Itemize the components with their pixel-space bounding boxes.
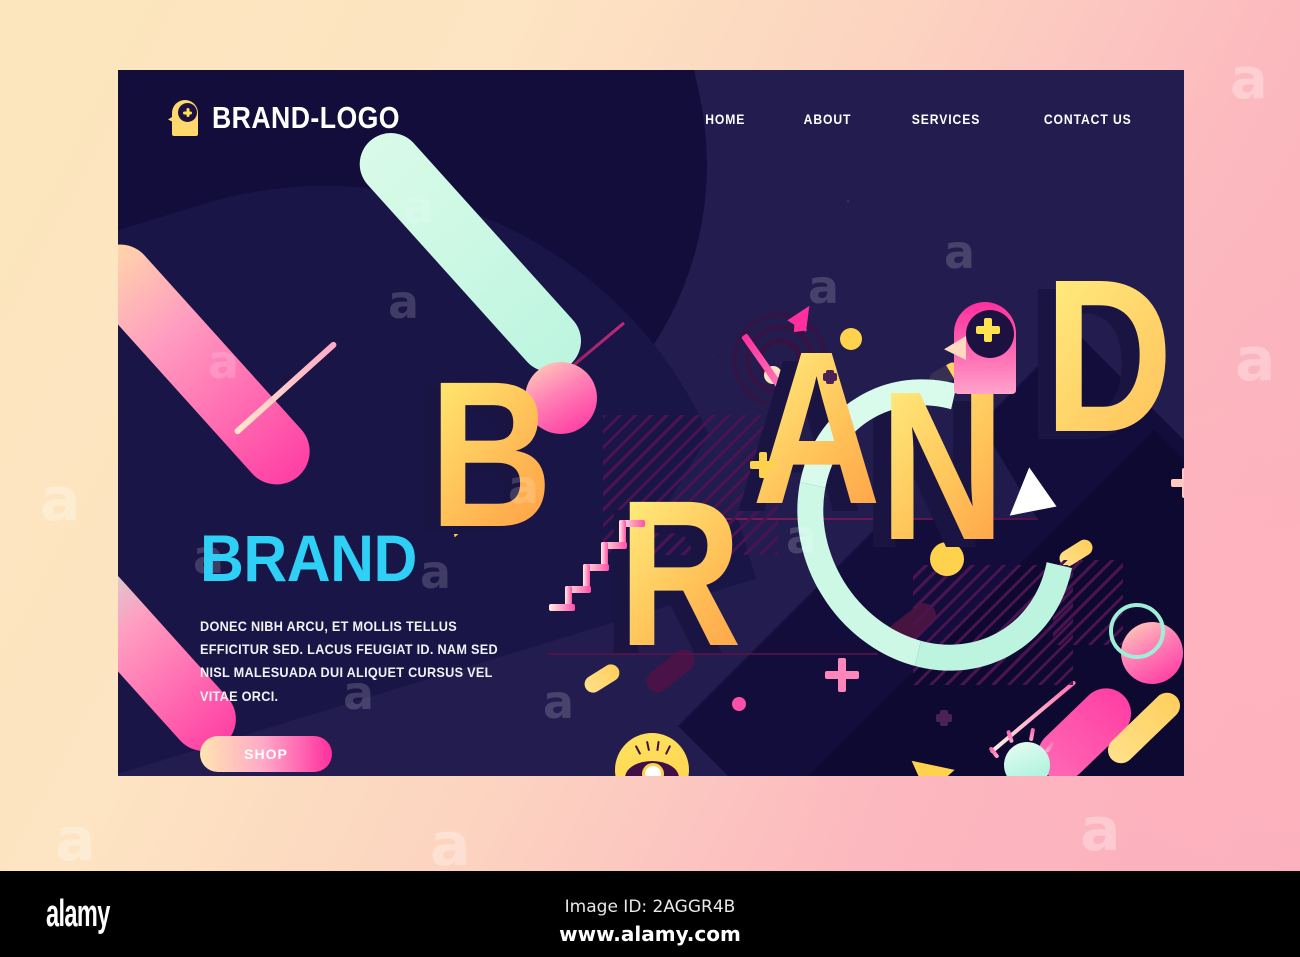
brand-logo[interactable]: BRAND-LOGO	[168, 100, 431, 136]
stock-footer-bar: alamy Image ID: 2AGGR4B www.alamy.com	[0, 871, 1300, 957]
zigzag-icon	[563, 520, 643, 630]
watermark-letter: a	[388, 275, 419, 329]
nav-item-about[interactable]: ABOUT	[804, 112, 852, 127]
dim-plus-icon-1	[823, 370, 837, 384]
watermark-letter: a	[40, 470, 81, 530]
alamy-url: www.alamy.com	[0, 922, 1300, 946]
nav-item-home[interactable]: HOME	[705, 112, 745, 127]
head-plus-icon	[944, 302, 1020, 394]
head-plus-icon	[168, 100, 198, 136]
hero-body-text: DONEC NIBH ARCU, ET MOLLIS TELLUS EFFICI…	[200, 615, 510, 708]
watermark-letter: a	[786, 510, 817, 564]
screenshot-stage: a a a a a a a	[0, 0, 1300, 957]
watermark-letter: a	[944, 225, 975, 279]
hero-headline: BRAND	[200, 525, 504, 591]
watermark-letter: a	[430, 815, 471, 875]
mint-ring-icon	[1109, 603, 1165, 659]
lightbulb-icon	[996, 738, 1060, 776]
nav-item-contact-us[interactable]: CONTACT US	[1043, 112, 1131, 127]
watermark-letter: a	[1235, 330, 1276, 390]
hero-card: B R A N D B R A N D	[118, 70, 1184, 776]
brand-logo-text: BRAND-LOGO	[212, 100, 400, 136]
site-header: BRAND-LOGO HOME ABOUT SERVICES CONTACT U…	[118, 70, 1184, 180]
cream-plus-icon	[1171, 468, 1184, 498]
eye-icon	[615, 733, 689, 776]
image-id-text: Image ID: 2AGGR4B	[0, 897, 1300, 917]
dim-plus-icon-2	[936, 710, 952, 726]
watermark-letter: a	[543, 675, 574, 729]
hero-copy-block: BRAND DONEC NIBH ARCU, ET MOLLIS TELLUS …	[200, 525, 530, 772]
yellow-plus-icon	[750, 452, 776, 478]
head-plus-glyph	[976, 318, 1000, 342]
main-navigation: HOME ABOUT SERVICES CONTACT US	[703, 112, 1136, 127]
watermark-letter: a	[808, 260, 839, 314]
watermark-letter: a	[1080, 800, 1121, 860]
watermark-letter: a	[1230, 52, 1268, 108]
nav-item-services[interactable]: SERVICES	[912, 112, 980, 127]
watermark-letter: a	[55, 810, 96, 870]
pink-plus-icon	[825, 658, 859, 692]
big-letter-d: D	[1044, 248, 1171, 466]
watermark-letter: a	[508, 460, 539, 514]
shop-button[interactable]: SHOP	[200, 736, 332, 772]
watermark-letter: a	[208, 335, 239, 389]
watermark-letter: a	[403, 180, 434, 234]
big-letter-a: A	[752, 320, 879, 538]
